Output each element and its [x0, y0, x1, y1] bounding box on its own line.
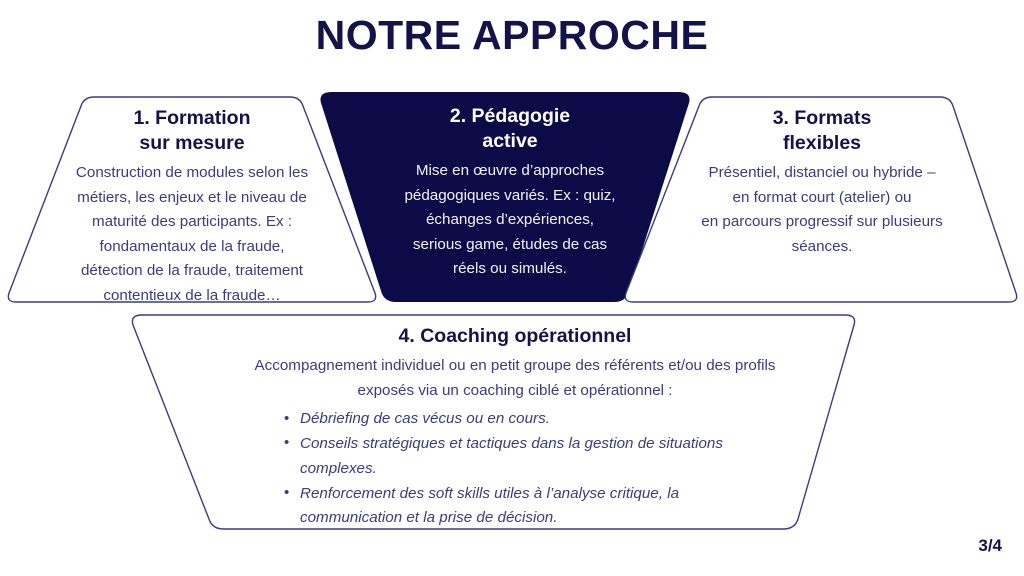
list-item: Débriefing de cas vécus ou en cours. — [282, 407, 748, 432]
card-2-heading: 2. Pédagogie active — [378, 104, 642, 154]
list-item: Renforcement des soft skills utiles à l’… — [282, 482, 748, 532]
card-2-body: Mise en œuvre d’approches pédagogiques v… — [378, 159, 642, 282]
list-item: Conseils stratégiques et tactiques dans … — [282, 432, 748, 482]
page-number: 3/4 — [978, 536, 1002, 556]
card-1-content: 1. Formation sur mesure Construction de … — [42, 106, 342, 309]
card-2-content: 2. Pédagogie active Mise en œuvre d’appr… — [378, 104, 642, 282]
card-1-body: Construction de modules selon les métier… — [42, 161, 342, 309]
card-3-body: Présentiel, distanciel ou hybride – en f… — [672, 161, 972, 260]
card-3-heading: 3. Formats flexibles — [672, 106, 972, 156]
slide-canvas: NOTRE APPROCHE 1. Formation sur mesure C… — [0, 0, 1024, 576]
card-4-bullet-list: Débriefing de cas vécus ou en cours. Con… — [282, 407, 748, 531]
card-1-heading: 1. Formation sur mesure — [42, 106, 342, 156]
card-4-content: 4. Coaching opérationnel Accompagnement … — [170, 324, 860, 531]
card-3-content: 3. Formats flexibles Présentiel, distanc… — [672, 106, 972, 259]
card-4-intro: Accompagnement individuel ou en petit gr… — [170, 354, 860, 403]
page-title: NOTRE APPROCHE — [0, 14, 1024, 57]
card-4-heading: 4. Coaching opérationnel — [170, 324, 860, 349]
